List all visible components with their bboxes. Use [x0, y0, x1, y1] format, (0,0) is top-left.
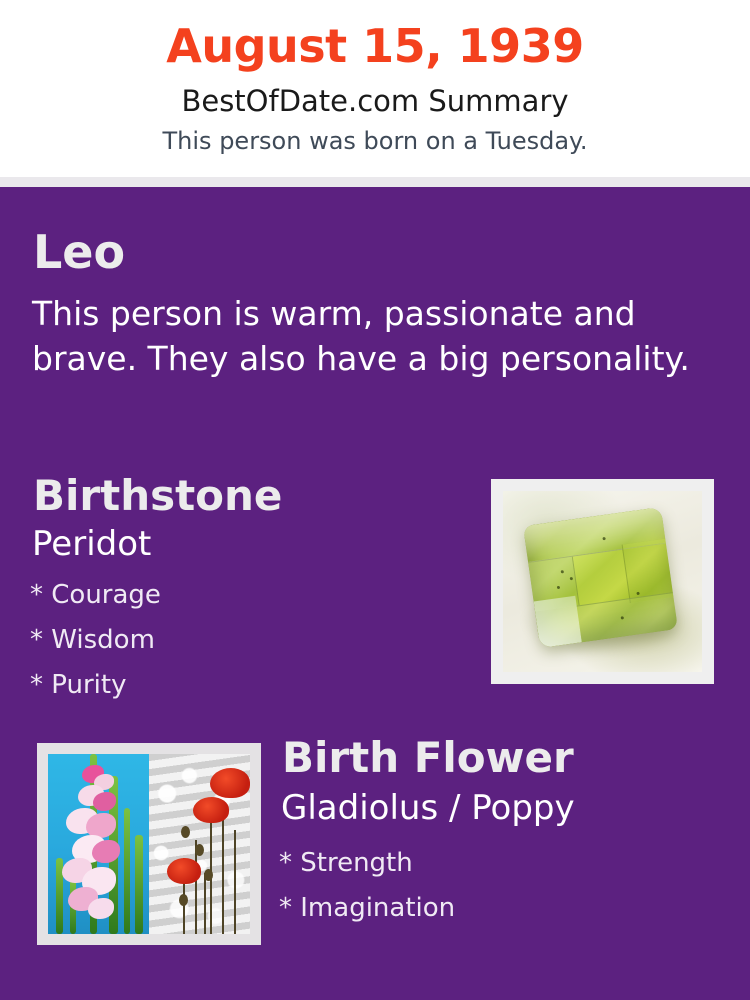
gem-crystal-shape: [523, 507, 678, 648]
list-item: * Imagination: [279, 895, 455, 921]
birthstone-image-frame: [491, 479, 714, 684]
poppy-bud: [204, 869, 213, 881]
summary-card: August 15, 1939 BestOfDate.com Summary T…: [0, 0, 750, 1000]
gladiolus-photo-half: [48, 754, 149, 934]
zodiac-description: This person is warm, passionate and brav…: [32, 292, 692, 381]
header-divider: [0, 177, 750, 187]
poppy-bud: [179, 894, 188, 906]
poppy-bloom: [210, 768, 250, 798]
list-item: * Purity: [30, 672, 161, 698]
birth-flower-heading: Birth Flower: [282, 737, 574, 779]
poppy-bud: [195, 844, 204, 856]
birth-flower-name: Gladiolus / Poppy: [281, 791, 575, 825]
birth-flower-trait-list: * Strength * Imagination: [279, 850, 455, 940]
header: August 15, 1939 BestOfDate.com Summary T…: [0, 0, 750, 177]
gladiolus-stem: [135, 835, 143, 934]
gladiolus-stem: [124, 808, 130, 934]
gem-facet: [572, 550, 629, 606]
poppy-photo-half: [149, 754, 250, 934]
birthstone-name: Peridot: [32, 527, 151, 561]
page-title-date: August 15, 1939: [0, 22, 750, 70]
poppy-stem: [204, 873, 206, 934]
birth-flower-image-frame: [37, 743, 261, 945]
list-item: * Strength: [279, 850, 455, 876]
poppy-bloom: [167, 858, 201, 884]
content-panel: Leo This person is warm, passionate and …: [0, 187, 750, 1000]
gem-facet: [534, 596, 582, 648]
peridot-gemstone-image: [503, 491, 702, 672]
list-item: * Courage: [30, 582, 161, 608]
site-summary-label: BestOfDate.com Summary: [0, 86, 750, 116]
birth-weekday-note: This person was born on a Tuesday.: [0, 129, 750, 154]
poppy-bloom: [193, 797, 229, 823]
list-item: * Wisdom: [30, 627, 161, 653]
poppy-stem: [234, 830, 236, 934]
birthstone-heading: Birthstone: [33, 475, 282, 517]
birthstone-trait-list: * Courage * Wisdom * Purity: [30, 582, 161, 717]
gladiolus-and-poppy-image: [48, 754, 250, 934]
zodiac-sign-title: Leo: [33, 229, 125, 275]
poppy-bud: [181, 826, 190, 838]
